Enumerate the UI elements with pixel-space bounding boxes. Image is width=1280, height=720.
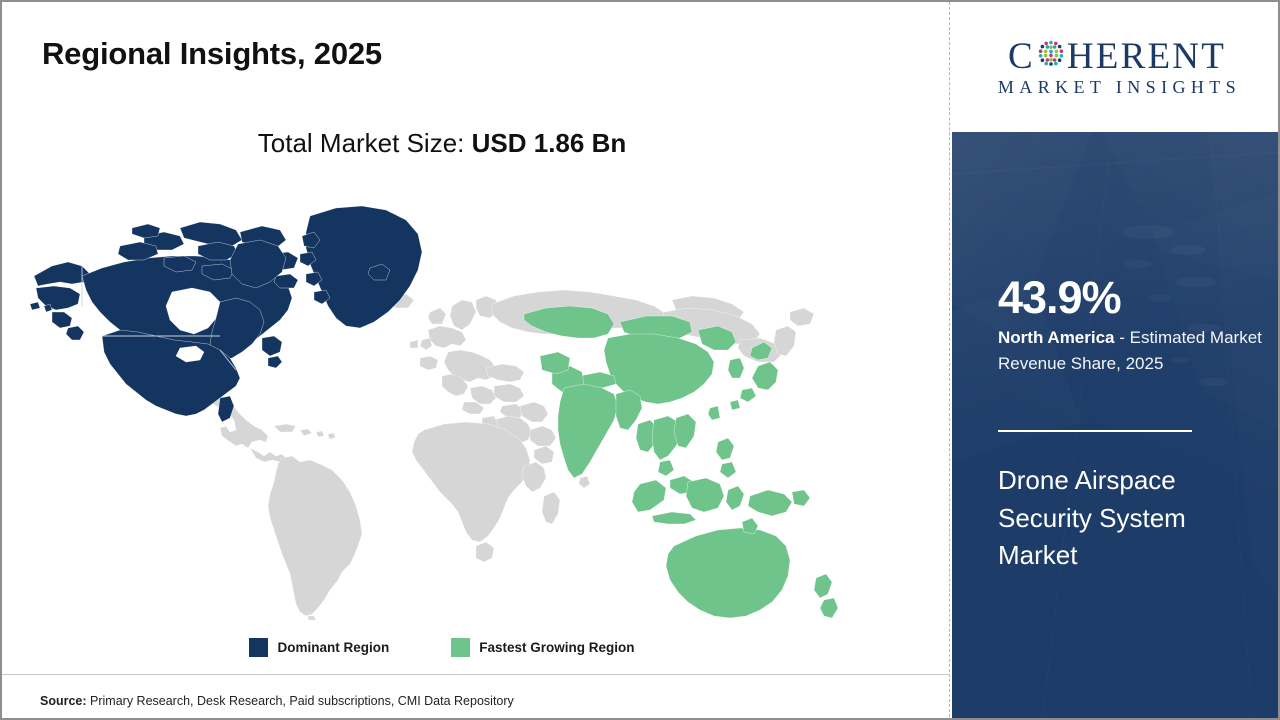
dominant-region-name: North America: [998, 328, 1115, 347]
sidebar-stat-box: 43.9% North America - Estimated Market R…: [952, 132, 1280, 720]
legend-item-fastest-growing: Fastest Growing Region: [451, 638, 634, 657]
market-title: Drone Airspace Security System Market: [998, 462, 1256, 575]
panel-background-texture: [952, 132, 1280, 720]
map-region-north-america: [30, 206, 422, 422]
regional-insights-infographic: Regional Insights, 2025 Total Market Siz…: [0, 0, 1280, 720]
revenue-share-value: 43.9%: [998, 275, 1121, 320]
source-text: Primary Research, Desk Research, Paid su…: [90, 694, 514, 708]
sidebar-panel: C: [952, 2, 1280, 720]
brand-logo: C: [952, 2, 1280, 132]
legend-label-fastest-growing: Fastest Growing Region: [479, 640, 634, 655]
map-legend: Dominant Region Fastest Growing Region: [2, 638, 882, 657]
brand-wordmark: C: [1008, 38, 1226, 75]
source-label: Source:: [40, 694, 90, 708]
legend-item-dominant: Dominant Region: [249, 638, 389, 657]
page-title: Regional Insights, 2025: [42, 36, 382, 72]
brand-name-part1: C: [1008, 38, 1035, 75]
footer-divider: [2, 674, 949, 675]
source-note: Source: Primary Research, Desk Research,…: [40, 694, 514, 708]
total-market-size-value: USD 1.86 Bn: [472, 128, 627, 158]
total-market-size-label: Total Market Size:: [258, 128, 472, 158]
legend-swatch-growing-icon: [451, 638, 470, 657]
brand-tagline: MARKET INSIGHTS: [993, 78, 1241, 96]
map-region-asia-pacific: [524, 306, 838, 620]
brand-name-part2: HERENT: [1067, 38, 1226, 75]
revenue-share-description: North America - Estimated Market Revenue…: [998, 325, 1266, 378]
total-market-size: Total Market Size: USD 1.86 Bn: [2, 128, 882, 159]
dotted-globe-icon: [1036, 38, 1066, 75]
sidebar-divider: [998, 430, 1192, 432]
world-map: [24, 180, 854, 620]
map-panel: Regional Insights, 2025 Total Market Siz…: [2, 2, 949, 720]
panel-divider: [949, 2, 950, 720]
legend-swatch-dominant-icon: [249, 638, 268, 657]
legend-label-dominant: Dominant Region: [277, 640, 389, 655]
